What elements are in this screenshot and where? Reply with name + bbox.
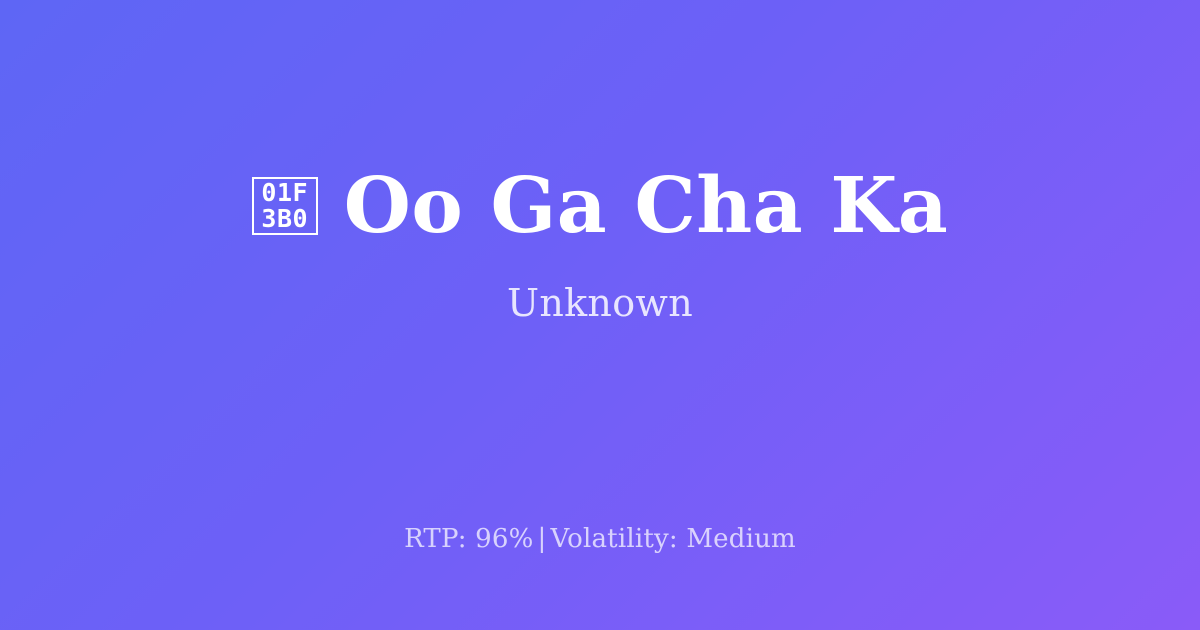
game-meta: RTP: 96%|Volatility: Medium: [0, 524, 1200, 555]
meta-separator: |: [534, 524, 551, 554]
provider-label: Unknown: [507, 281, 693, 327]
og-share-card: 01F 3B0 Oo Ga Cha Ka Unknown RTP: 96%|Vo…: [0, 0, 1200, 630]
rtp-stat: RTP: 96%: [404, 524, 533, 554]
title-line: 01F 3B0 Oo Ga Cha Ka: [252, 166, 948, 247]
tofu-codepoint-row-bottom: 3B0: [261, 206, 308, 232]
tofu-codepoint-row-top: 01F: [261, 180, 308, 206]
title-block: 01F 3B0 Oo Ga Cha Ka Unknown: [0, 0, 1200, 500]
volatility-stat: Volatility: Medium: [551, 524, 796, 554]
page-title: Oo Ga Cha Ka: [344, 166, 948, 247]
slot-machine-emoji-icon: 01F 3B0: [252, 177, 318, 235]
